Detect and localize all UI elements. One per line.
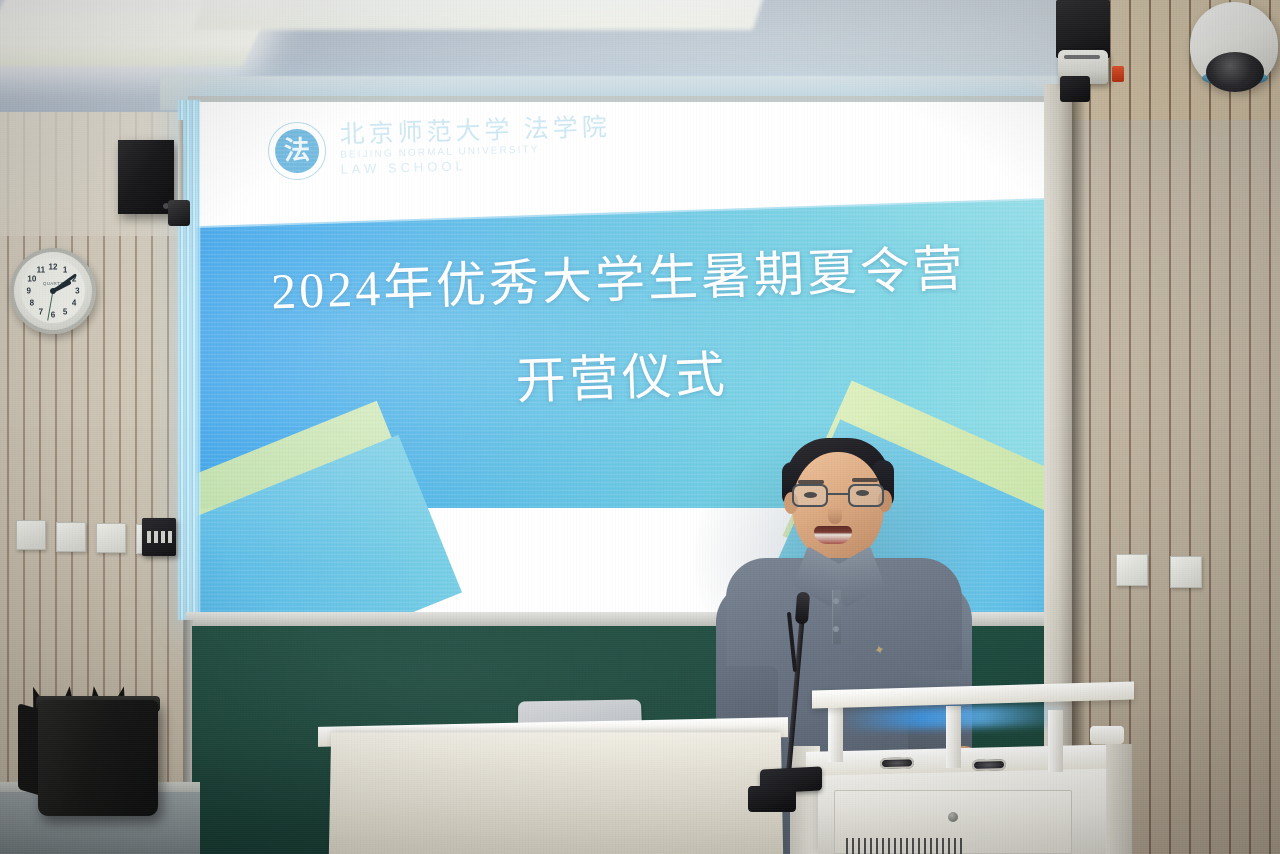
rack-post-left <box>828 700 843 762</box>
microphone-icon <box>795 592 810 625</box>
camera-mount-pole <box>178 120 183 212</box>
wall-plate-left-3[interactable] <box>96 523 126 553</box>
glasses-lens-left <box>792 484 828 507</box>
clock-number-1: 1 <box>63 265 67 274</box>
rack-post-mid <box>946 706 961 768</box>
wall-column-shadow <box>1072 84 1086 854</box>
wall-plate-right-1[interactable] <box>1116 554 1148 586</box>
wall-plate-left-1[interactable] <box>16 520 46 550</box>
wall-control-panel[interactable] <box>142 518 176 556</box>
clock-number-5: 5 <box>63 308 67 317</box>
speaker-shirt-button-1 <box>833 598 839 604</box>
clock-number-7: 7 <box>39 308 43 317</box>
wall-plate-right-2[interactable] <box>1170 556 1202 588</box>
clock-number-8: 8 <box>30 299 34 308</box>
glasses-lens-right <box>848 484 884 507</box>
lecture-hall-photo: 法 北京师范大学 法学院 BEIJING NORMAL UNIVERSITY L… <box>0 0 1280 854</box>
panel-switch-2[interactable] <box>154 531 158 543</box>
panel-switch-3[interactable] <box>161 531 165 543</box>
rack-ventilation-slots <box>846 838 966 854</box>
clock-number-3: 3 <box>75 287 79 296</box>
pole-camera-icon <box>168 200 190 226</box>
clock-center-pin <box>50 288 56 294</box>
dome-camera-ring <box>1202 70 1268 86</box>
speaker-eyebrow-right <box>852 478 878 482</box>
seal-glyph: 法 <box>284 138 311 165</box>
rack-drawer-lock-icon[interactable] <box>948 812 958 822</box>
lectern-podium: BEIJING NORMAL UNIVERSITY <box>329 732 783 854</box>
panel-switch-4[interactable] <box>168 531 172 543</box>
rack-port-1[interactable] <box>880 757 914 769</box>
ceiling-light-panel-2 <box>193 0 767 30</box>
rack-port-2[interactable] <box>972 759 1006 771</box>
rack-small-device <box>1090 726 1124 744</box>
law-school-logo: 法 北京师范大学 法学院 BEIJING NORMAL UNIVERSITY L… <box>267 113 612 181</box>
clock-number-4: 4 <box>72 299 76 308</box>
wall-speaker-icon <box>118 140 174 214</box>
clock-number-12: 12 <box>49 262 58 271</box>
dome-camera-icon <box>1190 2 1278 88</box>
wall-clock: QUARTZ 12 1 2 3 4 5 6 7 8 9 10 11 <box>10 248 96 334</box>
clock-number-6: 6 <box>51 311 55 320</box>
glasses-bridge <box>828 493 848 495</box>
clock-number-11: 11 <box>37 265 45 274</box>
speaker-nose <box>828 508 842 524</box>
speaker-mouth <box>814 526 852 544</box>
microphone-base-lower <box>748 786 796 812</box>
clock-number-10: 10 <box>27 274 36 283</box>
panel-switch-1[interactable] <box>147 531 151 543</box>
university-seal-icon: 法 <box>267 121 327 181</box>
logo-text-block: 北京师范大学 法学院 BEIJING NORMAL UNIVERSITY LAW… <box>339 115 612 177</box>
clock-face: QUARTZ 12 1 2 3 4 5 6 7 8 9 10 11 <box>21 259 85 323</box>
trash-bin <box>38 700 158 816</box>
glasses-icon <box>788 484 892 508</box>
speaker-shirt-button-2 <box>833 626 839 632</box>
rack-side-panel <box>1106 744 1132 854</box>
wall-plate-left-2[interactable] <box>56 522 86 552</box>
bullet-camera-icon <box>1058 50 1108 84</box>
rack-post-right <box>1048 710 1063 772</box>
camera-status-led <box>1112 66 1124 82</box>
clock-number-9: 9 <box>26 287 30 296</box>
